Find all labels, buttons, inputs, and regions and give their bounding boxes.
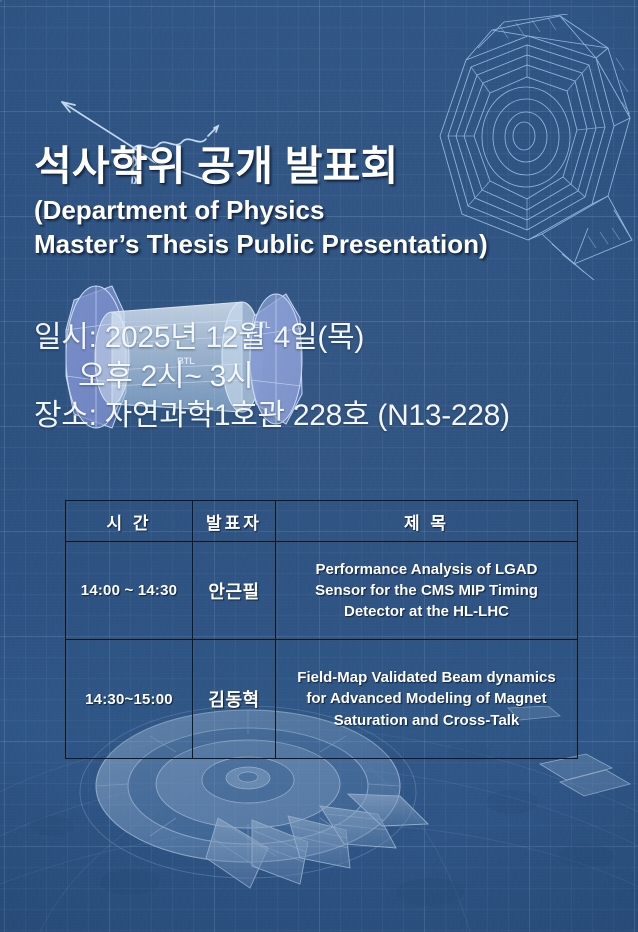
paper-texture [0, 0, 638, 932]
vignette-overlay [0, 0, 638, 932]
cell-title-2: Field-Map Validated Beam dynamics for Ad… [276, 640, 578, 759]
background-gradient [0, 0, 638, 932]
column-header-title: 제 목 [276, 501, 578, 542]
column-header-speaker: 발표자 [193, 501, 276, 542]
page-title-korean: 석사학위 공개 발표회 [34, 144, 614, 188]
cell-speaker-2: 김동혁 [193, 640, 276, 759]
cell-time-1: 14:00 ~ 14:30 [66, 542, 193, 640]
cell-time-2: 14:30~15:00 [66, 640, 193, 759]
table-row: 14:30~15:00 김동혁 Field-Map Validated Beam… [66, 640, 578, 759]
blueprint-grid [0, 0, 638, 932]
event-date: 일시: 2025년 12월 4일(목) [34, 318, 624, 357]
page-title-english: (Department of Physics Master’s Thesis P… [34, 194, 614, 261]
page-title-english-line1: (Department of Physics [34, 195, 324, 225]
page-title-english-line2: Master’s Thesis Public Presentation) [34, 229, 488, 259]
event-info-block: 일시: 2025년 12월 4일(목) 오후 2시~ 3시 장소: 자연과학1호… [34, 318, 624, 435]
schedule-table: 시 간 발표자 제 목 14:00 ~ 14:30 안근필 Performanc… [65, 500, 578, 759]
cell-speaker-1: 안근필 [193, 542, 276, 640]
event-time: 오후 2시~ 3시 [34, 357, 624, 396]
poster: BTL ETL [0, 0, 638, 932]
headline-block: 석사학위 공개 발표회 (Department of Physics Maste… [34, 144, 614, 261]
table-header-row: 시 간 발표자 제 목 [66, 501, 578, 542]
poster-frame-rule [0, 0, 2, 2]
column-header-time: 시 간 [66, 501, 193, 542]
event-place: 장소: 자연과학1호관 228호 (N13-228) [34, 396, 624, 435]
table-row: 14:00 ~ 14:30 안근필 Performance Analysis o… [66, 542, 578, 640]
cell-title-1: Performance Analysis of LGAD Sensor for … [276, 542, 578, 640]
